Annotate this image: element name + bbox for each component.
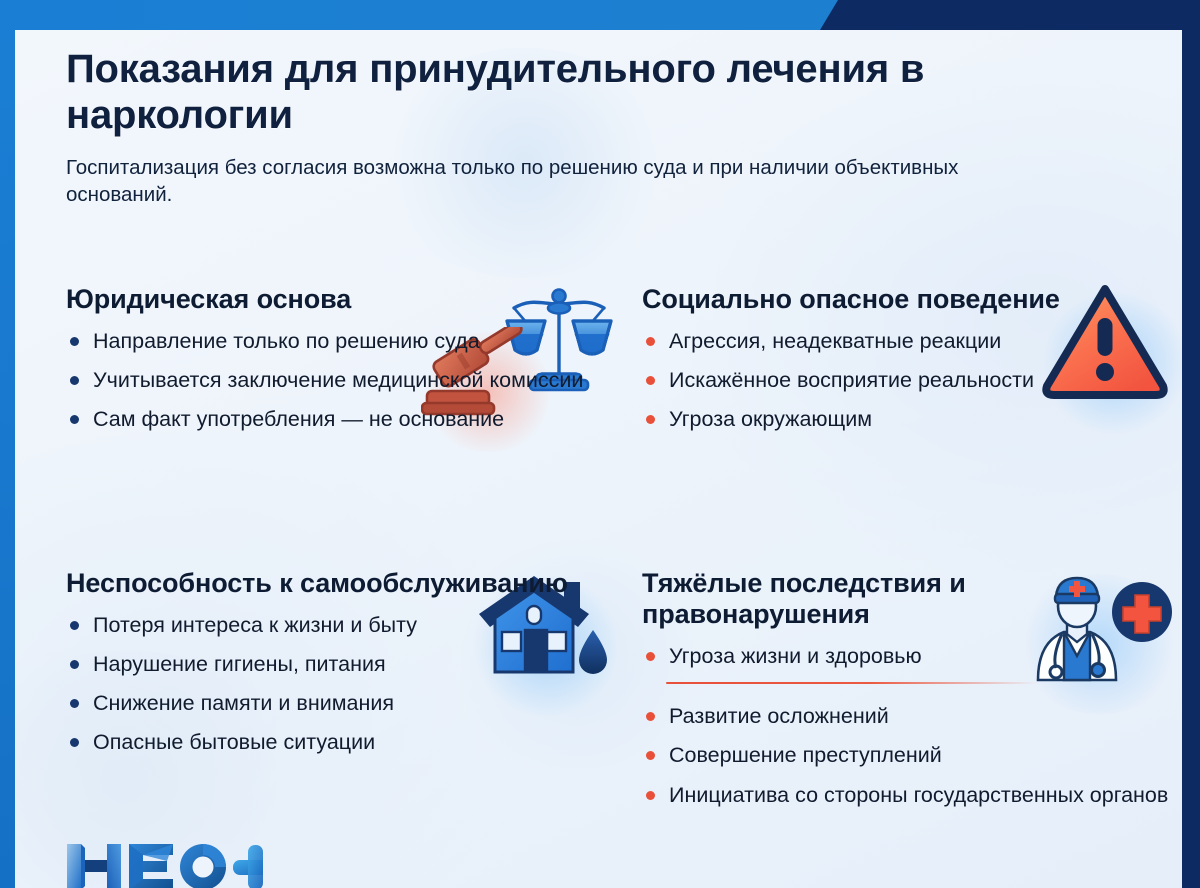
list-item: Опасные бытовые ситуации [66, 729, 636, 755]
section-title: Социально опасное поведение [642, 284, 1182, 315]
infographic-poster: Показания для принудительного лечения в … [0, 0, 1200, 888]
left-frame-bar [0, 0, 15, 888]
list-item: Потеря интереса к жизни и быту [66, 612, 636, 638]
poster-header: Показания для принудительного лечения в … [66, 46, 1046, 208]
page-title: Показания для принудительного лечения в … [66, 46, 1046, 139]
section-title: Тяжёлые последствия и правонарушения [642, 568, 1182, 630]
list-item: Сам факт употребления — не основание [66, 406, 636, 432]
diagonal-corner-accent [820, 0, 880, 30]
section-divider [666, 682, 1038, 685]
section-bullet-list: Агрессия, неадекватные реакции Искажённо… [642, 328, 1182, 433]
right-frame-bar [1182, 0, 1200, 888]
section-bullet-list: Потеря интереса к жизни и быту Нарушение… [66, 612, 636, 756]
section-self-care-inability: Неспособность к самообслуживанию Потеря … [66, 568, 636, 769]
section-title: Юридическая основа [66, 284, 636, 315]
list-item: Угроза жизни и здоровью [642, 643, 1182, 669]
section-bullet-list: Угроза жизни и здоровью [642, 643, 1182, 669]
brand-logo [63, 838, 263, 888]
list-item: Направление только по решению суда [66, 328, 636, 354]
section-dangerous-behavior: Социально опасное поведение Агрессия, не… [642, 284, 1182, 445]
section-severe-consequences: Тяжёлые последствия и правонарушения Угр… [642, 568, 1182, 821]
list-item: Агрессия, неадекватные реакции [642, 328, 1182, 354]
list-item: Снижение памяти и внимания [66, 690, 636, 716]
list-item: Инициатива со стороны государственных ор… [642, 782, 1182, 808]
list-item: Искажённое восприятие реальности [642, 367, 1182, 393]
list-item: Развитие осложнений [642, 703, 1182, 729]
list-item: Совершение преступлений [642, 742, 1182, 768]
section-title: Неспособность к самообслуживанию [66, 568, 636, 599]
list-item: Нарушение гигиены, питания [66, 651, 636, 677]
list-item: Угроза окружающим [642, 406, 1182, 432]
top-frame-bar [0, 0, 1200, 30]
section-legal-basis: Юридическая основа Направление только по… [66, 284, 636, 445]
list-item: Учитывается заключение медицинской комис… [66, 367, 636, 393]
poster-canvas: Показания для принудительного лечения в … [15, 30, 1182, 888]
section-bullet-list: Развитие осложнений Совершение преступле… [642, 703, 1182, 808]
page-subtitle: Госпитализация без согласия возможна тол… [66, 154, 1046, 209]
section-bullet-list: Направление только по решению суда Учиты… [66, 328, 636, 433]
